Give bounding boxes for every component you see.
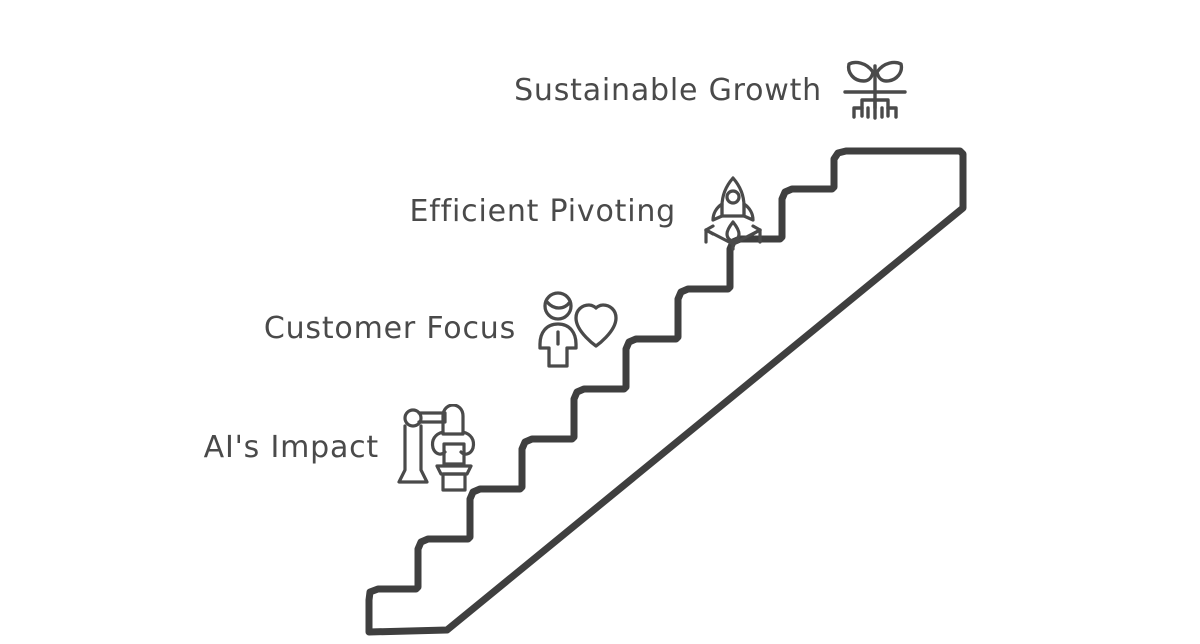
step-label-ais-impact[interactable]: AI's Impact — [182, 404, 477, 492]
step-label-sustainable-growth[interactable]: Sustainable Growth — [490, 52, 910, 130]
person-heart-icon — [534, 288, 620, 370]
step-label-text: Efficient Pivoting — [410, 197, 676, 227]
step-label-text: Sustainable Growth — [514, 76, 822, 106]
step-label-efficient-pivoting[interactable]: Efficient Pivoting — [392, 172, 772, 252]
diagram-canvas: Sustainable Growth — [0, 0, 1200, 644]
step-label-text: Customer Focus — [264, 314, 516, 344]
rocket-pivot-icon — [694, 172, 772, 252]
step-label-text: AI's Impact — [204, 433, 379, 463]
sprout-roots-icon — [840, 52, 910, 130]
robotic-arm-icon — [397, 404, 477, 492]
step-label-customer-focus[interactable]: Customer Focus — [272, 288, 620, 370]
